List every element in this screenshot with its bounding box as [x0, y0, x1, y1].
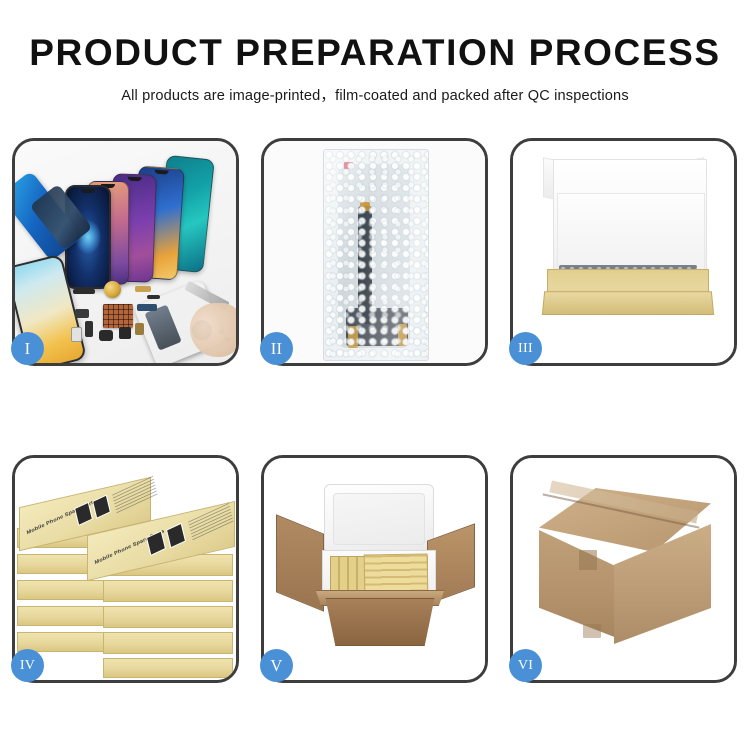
step-3-image: [513, 141, 734, 363]
spare-part: [73, 289, 95, 294]
process-step-panel-5[interactable]: V: [261, 455, 488, 683]
foam-lid: [324, 484, 434, 554]
stacked-boxes: Mobile Phone Spare Parts Mobile Phone Sp…: [15, 458, 236, 680]
process-step-panel-6[interactable]: VI: [510, 455, 737, 683]
bubble-wrap-bag: [323, 149, 429, 361]
page-header: PRODUCT PREPARATION PROCESS All products…: [0, 0, 750, 105]
step-4-image: Mobile Phone Spare Parts Mobile Phone Sp…: [15, 458, 236, 680]
box-thumbnail: [166, 523, 186, 549]
spare-part: [85, 321, 93, 337]
kraft-box: [17, 580, 115, 600]
chip-array-part: [103, 304, 133, 328]
speaker-coil-part: [104, 281, 121, 298]
phone-lineup-illustration: [15, 141, 236, 363]
process-step-panel-4[interactable]: Mobile Phone Spare Parts Mobile Phone Sp…: [12, 455, 239, 683]
spare-part: [147, 295, 160, 299]
carton-left-face: [539, 530, 617, 638]
carton-tab: [579, 550, 597, 570]
carton-body: [318, 598, 442, 646]
foam-lid-recess: [333, 493, 425, 545]
page-title: PRODUCT PREPARATION PROCESS: [0, 34, 750, 73]
process-step-panel-1[interactable]: I: [12, 138, 239, 366]
process-steps-grid: I II: [12, 138, 738, 683]
page-subtitle: All products are image-printed，film-coat…: [0, 84, 750, 105]
kraft-box: [103, 580, 233, 602]
carton-tab: [583, 624, 601, 638]
step-1-image: [15, 141, 236, 363]
spare-part: [75, 309, 89, 318]
step-2-image: [264, 141, 485, 363]
step-badge-1: I: [11, 332, 44, 365]
step-badge-5: V: [260, 649, 293, 682]
process-step-panel-3[interactable]: III: [510, 138, 737, 366]
spare-part: [135, 323, 144, 335]
kraft-box: [103, 606, 233, 628]
foam-sheet: [557, 193, 705, 271]
step-badge-6: VI: [509, 649, 542, 682]
carton-flap-left: [276, 514, 324, 611]
kraft-box: [103, 632, 233, 654]
step-5-image: [264, 458, 485, 680]
step-badge-2: II: [260, 332, 293, 365]
step-badge-3: III: [509, 332, 542, 365]
step-6-image: [513, 458, 734, 680]
plastic-gloss: [324, 150, 428, 360]
kraft-box: [103, 658, 233, 678]
process-step-panel-2[interactable]: II: [261, 138, 488, 366]
spare-part: [71, 327, 82, 342]
yellow-tray-front: [542, 291, 714, 315]
box-spec-lines: [112, 476, 158, 515]
box-spec-lines: [188, 503, 234, 542]
spare-part: [135, 286, 151, 292]
kraft-box: [17, 606, 115, 626]
spare-part: [137, 304, 157, 311]
step-badge-4: IV: [11, 649, 44, 682]
spare-part: [119, 327, 131, 339]
spare-part: [99, 330, 113, 341]
